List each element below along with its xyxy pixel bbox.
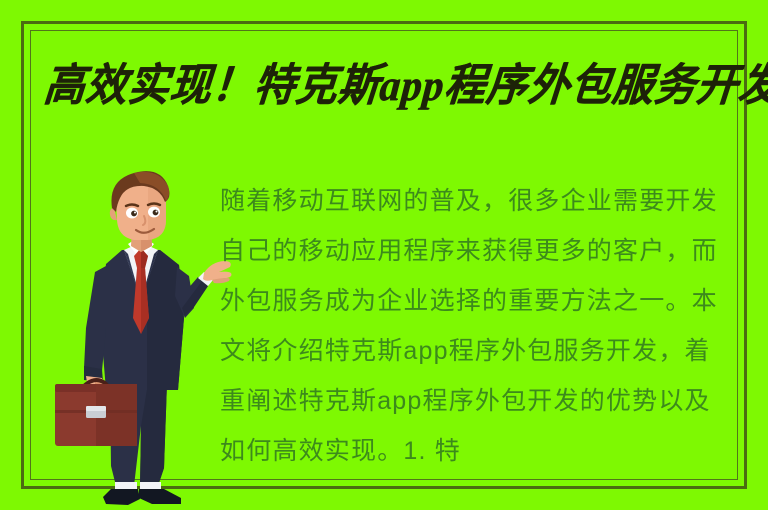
businessman-illustration (48, 168, 233, 510)
poster-canvas: 高效实现！特克斯app程序外包服务开发 (0, 0, 768, 510)
article-body-text: 随着移动互联网的普及，很多企业需要开发自己的移动应用程序来获得更多的客户，而外包… (220, 176, 732, 476)
page-title: 高效实现！特克斯app程序外包服务开发 (41, 54, 737, 119)
